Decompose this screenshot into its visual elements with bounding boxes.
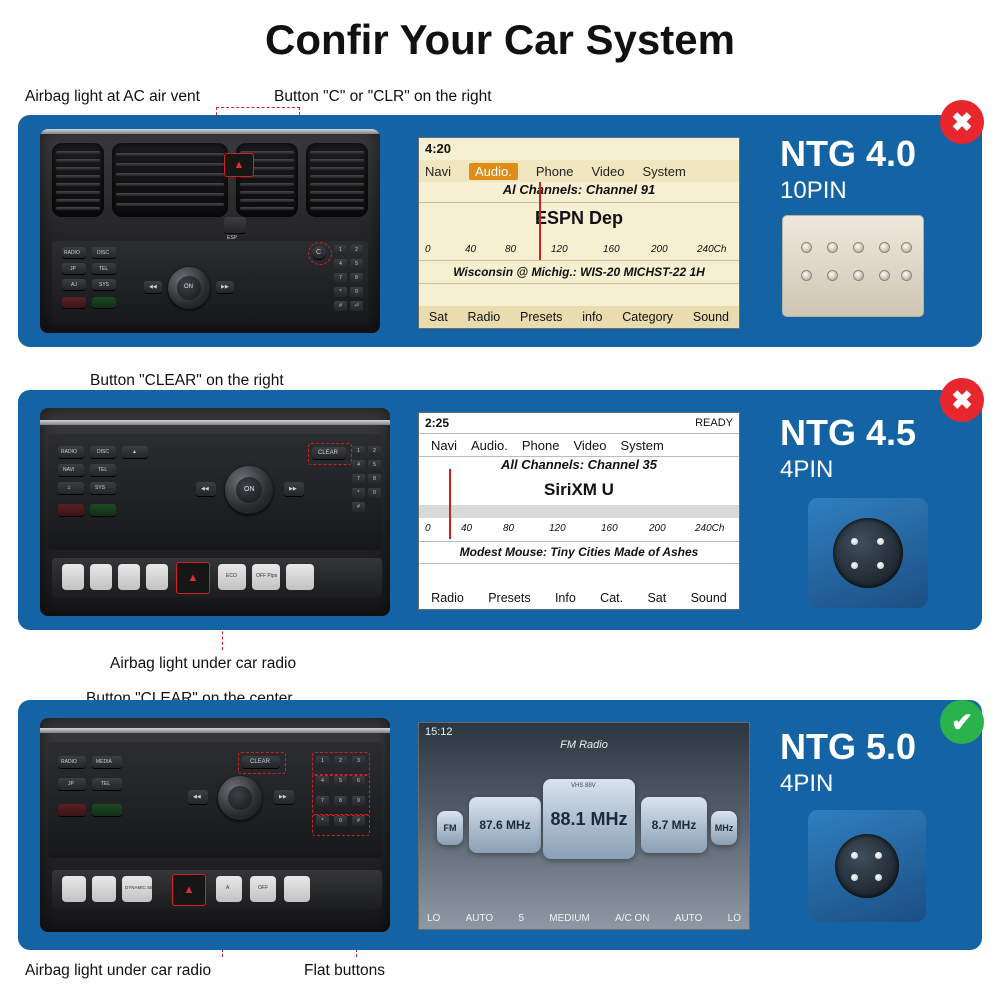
call-button[interactable] (92, 297, 116, 308)
status-badge-ntg40: ✖ (940, 100, 984, 144)
check-icon: ✔ (951, 709, 973, 735)
airbag-indicator: ▲ (176, 562, 210, 594)
freq-card-far-left[interactable]: FM (437, 811, 463, 845)
ntg50-pin: 4PIN (780, 770, 833, 798)
screen-status-right: READY (695, 417, 733, 429)
screen-menu[interactable]: Navi Audio. Phone Video System (419, 160, 739, 182)
clear-button-highlight (308, 242, 332, 265)
clear-button-highlight (238, 752, 286, 774)
airbag-icon: ▲ (234, 160, 245, 171)
tick-240: 240Ch (697, 244, 726, 255)
climate-medium[interactable]: MEDIUM (549, 913, 590, 924)
tick-160: 160 (603, 244, 620, 255)
tick-200: 200 (651, 244, 668, 255)
menu-item-navi[interactable]: Navi (431, 438, 457, 453)
menu-item-video[interactable]: Video (591, 164, 624, 179)
auto-label: A (226, 885, 229, 891)
freq-card-far-right[interactable]: MHz (711, 811, 737, 845)
status-badge-ntg45: ✖ (940, 378, 984, 422)
tick-80: 80 (505, 244, 516, 255)
menu-item-system[interactable]: System (643, 164, 686, 179)
hvac-button-1[interactable] (62, 564, 84, 590)
screen-ntg50: 15:12 FM Radio FM 87.6 MHz 88.1 MHz 8.7 … (418, 722, 750, 930)
menu-item-audio[interactable]: Audio. (469, 163, 518, 180)
screen-time: 15:12 (425, 726, 453, 738)
end-call-button[interactable] (62, 297, 86, 308)
end-call-button[interactable] (58, 804, 86, 816)
climate-lo-right[interactable]: LO (728, 913, 741, 924)
climate-lo-left[interactable]: LO (427, 913, 440, 924)
freq-card-right[interactable]: 8.7 MHz (641, 797, 707, 853)
screen-source: FM Radio (419, 739, 749, 751)
freq-card-center[interactable]: 88.1 MHz (543, 779, 635, 859)
leader-line (216, 107, 300, 108)
annotation-airbag-under: Airbag light under car radio (110, 655, 296, 673)
screen-climate-bar[interactable]: LO AUTO 5 MEDIUM A/C ON AUTO LO (419, 909, 749, 927)
screen-time: 4:20 (419, 138, 739, 160)
eco-label: ECO (226, 573, 237, 579)
annotation-flat-buttons: Flat buttons (304, 962, 385, 980)
tick-200: 200 (649, 523, 666, 534)
bottom-info[interactable]: info (582, 310, 602, 324)
bottom-category[interactable]: Category (622, 310, 673, 324)
screen-ntg45: 2:25 READY Navi Audio. Phone Video Syste… (418, 412, 740, 610)
row-ntg45: RADIO DISC ▲ NAVI TEL ♫ SYS ON ◀◀ ▶▶ CLE… (18, 390, 982, 630)
tick-120: 120 (551, 244, 568, 255)
dynamic-select-label: DYNAMIC SELECT (125, 885, 165, 890)
screen-ticker: Wisconsin @ Michig.: WIS-20 MICHST-22 1H (419, 260, 739, 284)
call-button[interactable] (90, 504, 116, 516)
screen-channel-scale: 0 40 80 120 160 200 240Ch (419, 519, 739, 539)
bottom-radio[interactable]: Radio (431, 591, 464, 605)
hvac-button-1[interactable] (62, 876, 86, 902)
flat-buttons-highlight-3 (312, 814, 370, 836)
hvac-button-2[interactable] (90, 564, 112, 590)
screen-bottom-bar[interactable]: Radio Presets Info Cat. Sat Sound (419, 587, 739, 609)
off-label: OFF (258, 885, 268, 891)
climate-ac-on[interactable]: A/C ON (615, 913, 649, 924)
ntg45-pin: 4PIN (780, 456, 833, 484)
connector-4pin-ntg45 (808, 498, 928, 608)
annotation-airbag-vent: Airbag light at AC air vent (25, 88, 200, 106)
airbag-icon: ▲ (188, 573, 199, 584)
screen-channel-line: Al Channels: Channel 91 (419, 182, 739, 203)
bottom-radio[interactable]: Radio (468, 310, 501, 324)
screen-station-name: SiriXM U (419, 475, 739, 505)
connector-10pin (782, 215, 924, 317)
clear-button-highlight (308, 443, 352, 465)
bottom-sat[interactable]: Sat (429, 310, 448, 324)
bottom-presets[interactable]: Presets (520, 310, 562, 324)
hvac-button-3[interactable] (284, 876, 310, 902)
bottom-info[interactable]: Info (555, 591, 576, 605)
cross-icon: ✖ (951, 109, 973, 135)
connector-4pin-ntg50 (808, 810, 926, 922)
airbag-icon: ▲ (184, 885, 195, 896)
tick-80: 80 (503, 523, 514, 534)
head-unit-ntg45: RADIO DISC ▲ NAVI TEL ♫ SYS ON ◀◀ ▶▶ CLE… (40, 408, 390, 616)
hvac-button-2[interactable] (92, 876, 116, 902)
menu-item-phone[interactable]: Phone (522, 438, 560, 453)
screen-ntg40: 4:20 Navi Audio. Phone Video System Al C… (418, 137, 740, 329)
end-call-button[interactable] (58, 504, 84, 516)
annotation-airbag-under-2: Airbag light under car radio (25, 962, 211, 980)
page-title: Confir Your Car System (0, 16, 1000, 64)
call-button[interactable] (92, 804, 122, 816)
tick-0: 0 (425, 244, 431, 255)
head-unit-ntg50: RADIO MEDIA JP TEL ◀◀ ▶▶ CLEAR 1 2 3 4 5… (40, 718, 390, 932)
tick-0: 0 (425, 523, 431, 534)
pips-label: OFF Pips (256, 573, 277, 579)
hvac-button-4[interactable] (146, 564, 168, 590)
menu-item-phone[interactable]: Phone (536, 164, 574, 179)
freq-card-left[interactable]: 87.6 MHz (469, 797, 541, 853)
bottom-sound[interactable]: Sound (691, 591, 727, 605)
bottom-presets[interactable]: Presets (488, 591, 530, 605)
air-vent-left (52, 143, 104, 217)
status-badge-ntg50: ✔ (940, 700, 984, 744)
freq-card-small-label: VHS 88V (571, 783, 596, 789)
menu-item-navi[interactable]: Navi (425, 164, 451, 179)
cross-icon: ✖ (951, 387, 973, 413)
hvac-button-3[interactable] (118, 564, 140, 590)
ntg40-pin: 10PIN (780, 177, 847, 205)
tick-40: 40 (465, 244, 476, 255)
screen-bottom-bar[interactable]: Sat Radio Presets info Category Sound (419, 306, 739, 328)
bottom-sat[interactable]: Sat (647, 591, 666, 605)
row-ntg50: RADIO MEDIA JP TEL ◀◀ ▶▶ CLEAR 1 2 3 4 5… (18, 700, 982, 950)
screen-channel-scale: 0 40 80 120 160 200 240Ch (419, 238, 739, 260)
screen-station-name: ESPN Dep (419, 202, 739, 234)
flat-buttons-highlight-1 (312, 752, 370, 776)
airbag-indicator: ▲ (172, 874, 206, 906)
tick-240: 240Ch (695, 523, 724, 534)
climate-auto-left[interactable]: AUTO (466, 913, 494, 924)
tick-120: 120 (549, 523, 566, 534)
bottom-cat[interactable]: Cat. (600, 591, 623, 605)
bottom-sound[interactable]: Sound (693, 310, 729, 324)
volume-knob[interactable] (218, 776, 262, 820)
ntg40-title: NTG 4.0 (780, 133, 916, 175)
esp-button[interactable] (224, 217, 246, 233)
climate-auto-right[interactable]: AUTO (675, 913, 703, 924)
annotation-clr-right: Button "C" or "CLR" on the right (274, 88, 492, 106)
air-vent-center (112, 143, 228, 217)
hvac-button-5[interactable] (286, 564, 314, 590)
screen-topbar: 2:25 READY (419, 413, 739, 434)
menu-item-system[interactable]: System (621, 438, 664, 453)
screen-time: 2:25 (425, 416, 449, 430)
flat-buttons-highlight-2 (312, 774, 370, 816)
air-vent-far-right (306, 143, 368, 217)
ntg45-title: NTG 4.5 (780, 412, 916, 454)
climate-fan-speed[interactable]: 5 (518, 913, 524, 924)
audio-button[interactable] (58, 482, 84, 494)
screen-ticker: Modest Mouse: Tiny Cities Made of Ashes (419, 541, 739, 564)
row-ntg40: ▲ ESP RADIO DISC JP TEL AJ SYS ON ◀◀ ▶▶ … (18, 115, 982, 347)
screen-menu[interactable]: Navi Audio. Phone Video System (419, 434, 739, 457)
menu-item-video[interactable]: Video (573, 438, 606, 453)
head-unit-ntg40: ▲ ESP RADIO DISC JP TEL AJ SYS ON ◀◀ ▶▶ … (40, 129, 380, 333)
airbag-indicator: ▲ (224, 153, 254, 177)
menu-item-audio[interactable]: Audio. (471, 438, 508, 453)
tick-160: 160 (601, 523, 618, 534)
screen-channel-line: All Channels: Channel 35 (419, 457, 739, 476)
annotation-clear-right: Button "CLEAR" on the right (90, 372, 284, 390)
tick-40: 40 (461, 523, 472, 534)
ntg50-title: NTG 5.0 (780, 726, 916, 768)
